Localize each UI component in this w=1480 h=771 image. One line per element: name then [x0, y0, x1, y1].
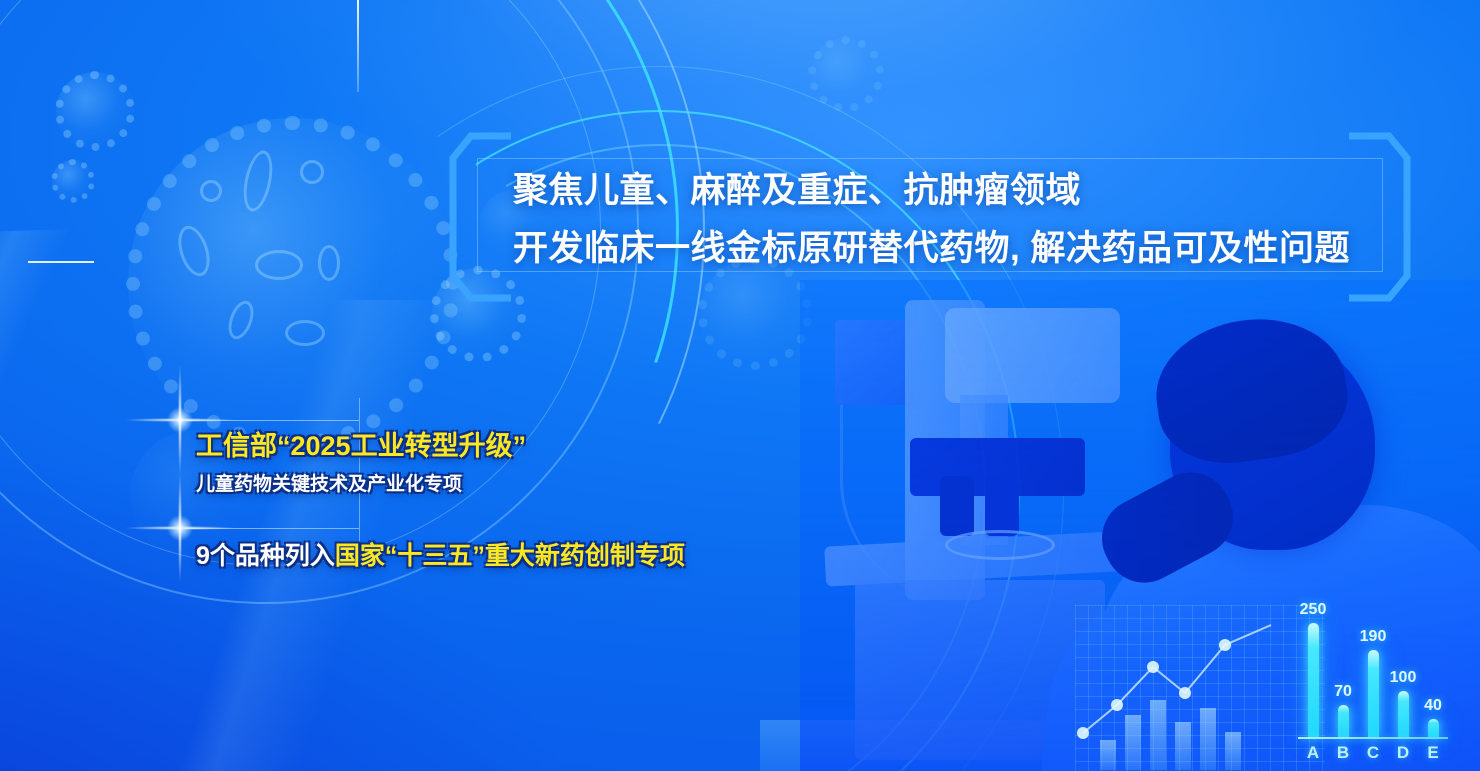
banner-root: 聚焦儿童、麻醉及重症、抗肿瘤领域 开发临床一线金标原研替代药物, 解决药品可及性… [0, 0, 1480, 771]
bar-value-label: 190 [1360, 628, 1387, 646]
bar-column: 190 [1358, 597, 1388, 737]
virus-small-5-icon [810, 38, 882, 110]
headline-block: 聚焦儿童、麻醉及重症、抗肿瘤领域 开发临床一线金标原研替代药物, 解决药品可及性… [513, 162, 1413, 278]
feature-2-highlight: 国家“十三五”重大新药创制专项 [335, 542, 685, 570]
left-accent-dash [28, 261, 94, 263]
bar-value-label: 40 [1424, 697, 1442, 715]
bracket-left-icon [449, 132, 519, 302]
bar-value-label: 100 [1390, 669, 1417, 687]
bar-value-label: 70 [1334, 683, 1352, 701]
bar-column: 70 [1328, 597, 1358, 737]
feature-item-1: 工信部“2025工业转型升级” 儿童药物关键技术及产业化专项 [196, 424, 526, 496]
bar-chart-plot: 2507019010040 [1298, 597, 1448, 737]
bar-value-label: 250 [1300, 601, 1327, 619]
feature-2-prefix: 9个品种列入 [196, 542, 335, 570]
bar-category-label: C [1358, 743, 1388, 763]
bar-column: 250 [1298, 597, 1328, 737]
background-trend-line [1075, 605, 1335, 771]
bar-category-label: E [1418, 743, 1448, 763]
feature-1-connector [184, 420, 359, 421]
feature-1-title: 工信部“2025工业转型升级” [196, 424, 526, 463]
bar-chart-category-labels: ABCDE [1298, 743, 1448, 763]
bar [1428, 719, 1439, 737]
feature-item-2: 9个品种列入国家“十三五”重大新药创制专项 [196, 536, 685, 572]
bar-category-label: B [1328, 743, 1358, 763]
feature-1-subtitle: 儿童药物关键技术及产业化专项 [196, 469, 526, 496]
bar [1398, 691, 1409, 737]
bar [1368, 650, 1379, 737]
headline-line-1: 聚焦儿童、麻醉及重症、抗肿瘤领域 [513, 162, 1413, 220]
bar-chart-axis-line [1298, 737, 1448, 739]
bar [1308, 623, 1319, 737]
bar-category-label: D [1388, 743, 1418, 763]
bar-category-label: A [1298, 743, 1328, 763]
top-accent-line [357, 0, 359, 92]
neon-bar-chart: 2507019010040 ABCDE [1298, 578, 1448, 763]
bar [1338, 705, 1349, 737]
feature-2-connector [184, 528, 359, 529]
headline-line-2: 开发临床一线金标原研替代药物, 解决药品可及性问题 [513, 220, 1413, 278]
bar-column: 40 [1418, 597, 1448, 737]
bar-column: 100 [1388, 597, 1418, 737]
